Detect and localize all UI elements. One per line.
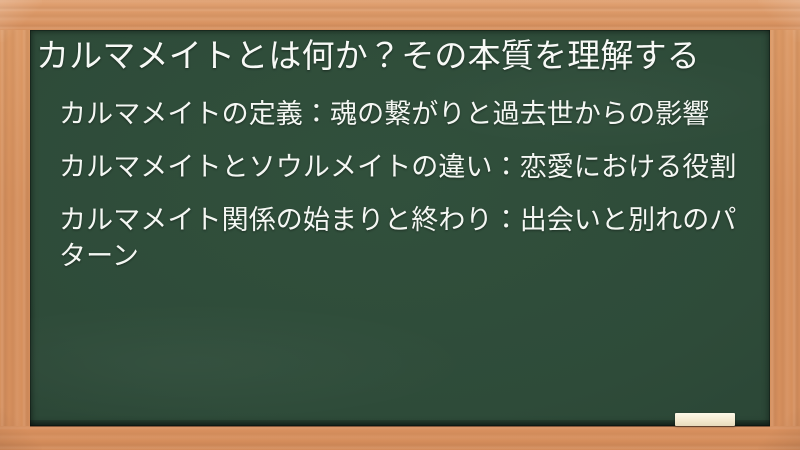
page-title: カルマメイトとは何か？その本質を理解する [33,34,756,78]
chalkboard-surface: カルマメイトとは何か？その本質を理解する カルマメイトの定義：魂の繋がりと過去世… [30,30,770,426]
chalkboard-ledge-shadow [30,420,770,427]
chalk-stick-icon [675,413,735,426]
list-item: カルマメイトとソウルメイトの違い：恋愛における役割 [59,149,756,186]
slide-canvas: カルマメイトとは何か？その本質を理解する カルマメイトの定義：魂の繋がりと過去世… [0,0,800,450]
wood-frame-top-rail [0,0,800,30]
outline-list: カルマメイトの定義：魂の繋がりと過去世からの影響 カルマメイトとソウルメイトの違… [33,96,756,275]
list-item: カルマメイトの定義：魂の繋がりと過去世からの影響 [59,96,756,133]
wood-frame-bottom-rail [0,426,800,450]
list-item: カルマメイト関係の始まりと終わり：出会いと別れのパターン [59,202,756,275]
chalkboard-content: カルマメイトとは何か？その本質を理解する カルマメイトの定義：魂の繋がりと過去世… [30,30,770,275]
